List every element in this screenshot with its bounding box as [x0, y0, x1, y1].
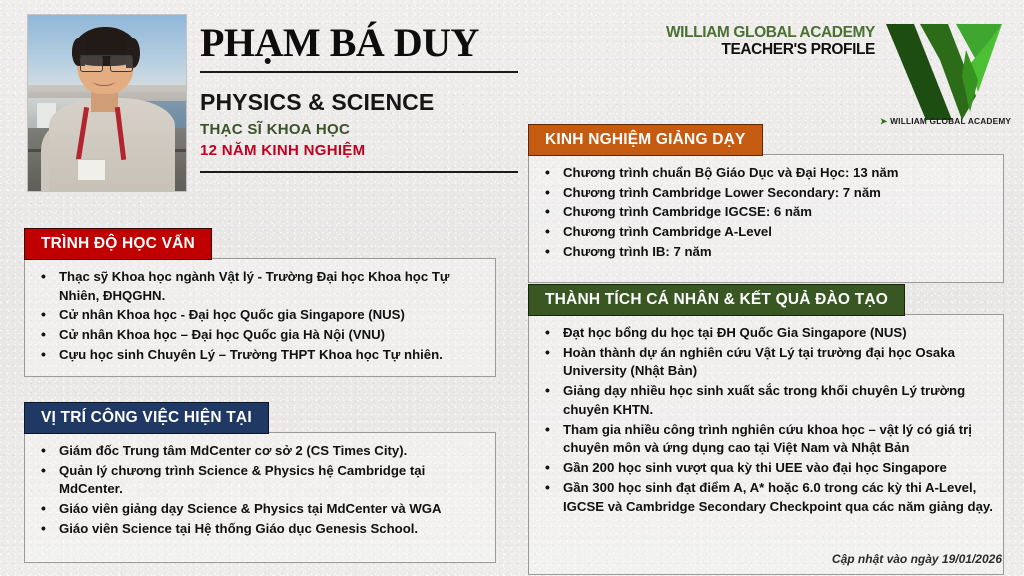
teaching-experience-panel-body: Chương trình chuẩn Bộ Giáo Dục và Đại Họ… [528, 154, 1004, 283]
update-note: Cập nhật vào ngày 19/01/2026 [832, 552, 1002, 566]
achievements-panel-body: Đạt học bổng du học tại ĐH Quốc Gia Sing… [528, 314, 1004, 575]
profile-subtitle: TEACHER'S PROFILE [660, 41, 875, 59]
photo-glasses-bridge [80, 55, 131, 68]
current-position-panel-body: Giám đốc Trung tâm MdCenter cơ sở 2 (CS … [24, 432, 496, 563]
list-item: Quản lý chương trình Science & Physics h… [33, 462, 485, 499]
achievements-panel: THÀNH TÍCH CÁ NHÂN & KẾT QUẢ ĐÀO TẠO Đạt… [528, 284, 1002, 575]
page-title: PHẠM BÁ DUY [200, 22, 518, 64]
current-position-panel: VỊ TRÍ CÔNG VIỆC HIỆN TẠI Giám đốc Trung… [24, 402, 494, 563]
title-divider-top [200, 71, 518, 73]
education-panel-body: Thạc sỹ Khoa học ngành Vật lý - Trường Đ… [24, 258, 496, 377]
list-item: Cử nhân Khoa học – Đại học Quốc gia Hà N… [33, 326, 485, 345]
education-panel-title: TRÌNH ĐỘ HỌC VẤN [24, 228, 212, 260]
list-item: Cựu học sinh Chuyên Lý – Trường THPT Kho… [33, 346, 485, 365]
list-item: Gần 300 học sinh đạt điểm A, A* hoặc 6.0… [537, 479, 993, 516]
teaching-experience-panel: KINH NGHIỆM GIẢNG DẠY Chương trình chuẩn… [528, 124, 1002, 283]
education-list: Thạc sỹ Khoa học ngành Vật lý - Trường Đ… [33, 268, 485, 365]
subject-label: PHYSICS & SCIENCE [200, 89, 518, 116]
brand-block: WILLIAM GLOBAL ACADEMY TEACHER'S PROFILE [660, 24, 875, 59]
title-divider-bottom [200, 171, 518, 173]
current-position-list: Giám đốc Trung tâm MdCenter cơ sở 2 (CS … [33, 442, 485, 539]
achievements-panel-title: THÀNH TÍCH CÁ NHÂN & KẾT QUẢ ĐÀO TẠO [528, 284, 905, 316]
list-item: Giám đốc Trung tâm MdCenter cơ sở 2 (CS … [33, 442, 485, 461]
list-item: Hoàn thành dự án nghiên cứu Vật Lý tại t… [537, 344, 993, 381]
list-item: Chương trình IB: 7 năm [537, 243, 993, 262]
list-item: Cử nhân Khoa học - Đại học Quốc gia Sing… [33, 306, 485, 325]
list-item: Tham gia nhiều công trình nghiên cứu kho… [537, 421, 993, 458]
list-item: Chương trình chuẩn Bộ Giáo Dục và Đại Họ… [537, 164, 993, 183]
list-item: Giáo viên giảng dạy Science & Physics tạ… [33, 500, 485, 519]
teacher-photo [28, 15, 186, 191]
teacher-profile-slide: PHẠM BÁ DUY PHYSICS & SCIENCE THẠC SĨ KH… [0, 0, 1024, 576]
list-item: Đạt học bổng du học tại ĐH Quốc Gia Sing… [537, 324, 993, 343]
photo-badge [77, 159, 106, 180]
academy-name: WILLIAM GLOBAL ACADEMY [660, 24, 875, 41]
achievements-list: Đạt học bổng du học tại ĐH Quốc Gia Sing… [537, 324, 993, 516]
list-item: Chương trình Cambridge IGCSE: 6 năm [537, 203, 993, 222]
name-block: PHẠM BÁ DUY PHYSICS & SCIENCE THẠC SĨ KH… [200, 22, 518, 173]
list-item: Chương trình Cambridge Lower Secondary: … [537, 184, 993, 203]
education-panel: TRÌNH ĐỘ HỌC VẤN Thạc sỹ Khoa học ngành … [24, 228, 494, 377]
list-item: Thạc sỹ Khoa học ngành Vật lý - Trường Đ… [33, 268, 485, 305]
list-item: Gần 200 học sinh vượt qua kỳ thi UEE vào… [537, 459, 993, 478]
teaching-experience-panel-title: KINH NGHIỆM GIẢNG DẠY [528, 124, 763, 156]
teaching-experience-list: Chương trình chuẩn Bộ Giáo Dục và Đại Họ… [537, 164, 993, 262]
list-item: Chương trình Cambridge A-Level [537, 223, 993, 242]
experience-years-label: 12 NĂM KINH NGHIỆM [200, 142, 518, 159]
list-item: Giảng dạy nhiều học sinh xuất sắc trong … [537, 382, 993, 419]
list-item: Giáo viên Science tại Hệ thống Giáo dục … [33, 520, 485, 539]
degree-label: THẠC SĨ KHOA HỌC [200, 121, 518, 138]
current-position-panel-title: VỊ TRÍ CÔNG VIỆC HIỆN TẠI [24, 402, 269, 434]
